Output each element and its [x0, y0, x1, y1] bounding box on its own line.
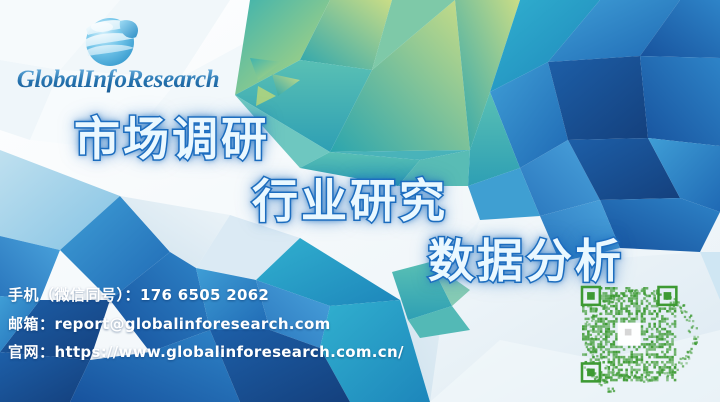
headline-market-research: 市场调研	[74, 116, 270, 162]
contact-website-value[interactable]: https://www.globalinforesearch.com.cn/	[55, 343, 404, 361]
contact-email-line: 邮箱：report@globalinforesearch.com	[8, 313, 331, 334]
poster-banner: GlobalInfoResearch 市场调研 行业研究 数据分析 手机（微信同…	[0, 0, 720, 402]
headline-industry-research: 行业研究	[252, 178, 448, 224]
contact-email-value: report@globalinforesearch.com	[55, 315, 331, 333]
wechat-qr-code[interactable]	[568, 282, 714, 398]
contact-website-label: 官网：	[8, 343, 55, 361]
contact-email-label: 邮箱：	[8, 315, 55, 333]
contact-phone-line: 手机（微信同号）：176 6505 2062	[8, 284, 269, 305]
contact-website-line: 官网：https://www.globalinforesearch.com.cn…	[8, 341, 404, 362]
brand-wordmark: GlobalInfoResearch	[8, 66, 228, 94]
brand-logo: GlobalInfoResearch	[8, 4, 228, 104]
globe-icon	[76, 9, 146, 71]
contact-phone-label: 手机（微信同号）：	[8, 286, 140, 304]
contact-phone-value: 176 6505 2062	[140, 286, 269, 304]
qr-code-icon	[568, 282, 714, 398]
headline-data-analysis: 数据分析	[428, 238, 624, 284]
